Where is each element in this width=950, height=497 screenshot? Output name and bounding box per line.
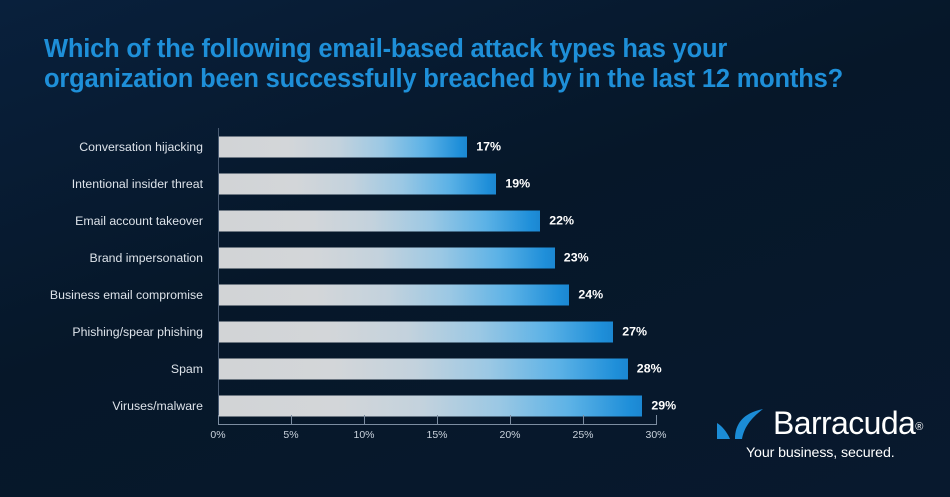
x-tick-label: 0% (210, 429, 225, 441)
category-label: Brand impersonation (90, 251, 203, 265)
bar-value-label: 24% (578, 288, 603, 302)
x-tick-label: 25% (572, 429, 593, 441)
x-tick (291, 415, 292, 425)
bar-value-label: 23% (564, 251, 589, 265)
x-tick-label: 30% (645, 429, 666, 441)
infographic-canvas: Which of the following email-based attac… (0, 0, 950, 497)
bar-track: 23% (219, 247, 555, 268)
x-tick-label: 10% (353, 429, 374, 441)
category-label: Business email compromise (50, 288, 203, 302)
x-tick (510, 415, 511, 425)
category-label: Email account takeover (75, 214, 203, 228)
logo-wordmark: Barracuda® (773, 405, 923, 442)
bar-track: 17% (219, 136, 467, 157)
bar-value-label: 28% (637, 362, 662, 376)
category-label: Intentional insider threat (72, 177, 203, 191)
bar (219, 284, 569, 305)
bar-chart: Conversation hijacking17%Intentional ins… (0, 128, 950, 448)
bar-row: Intentional insider threat19% (0, 165, 950, 202)
bar-row: Spam28% (0, 350, 950, 387)
bar-track: 24% (219, 284, 569, 305)
bar (219, 321, 613, 342)
x-tick-label: 5% (283, 429, 298, 441)
bar (219, 173, 496, 194)
x-tick (583, 415, 584, 425)
page-title: Which of the following email-based attac… (44, 34, 934, 94)
bar (219, 210, 540, 231)
logo-tagline: Your business, secured. (746, 445, 895, 461)
x-tick-label: 20% (499, 429, 520, 441)
bar-row: Conversation hijacking17% (0, 128, 950, 165)
bar (219, 247, 555, 268)
x-tick (218, 415, 219, 425)
bar-track: 19% (219, 173, 496, 194)
bar-row: Email account takeover22% (0, 202, 950, 239)
x-tick (656, 415, 657, 425)
bar-track: 27% (219, 321, 613, 342)
category-label: Conversation hijacking (79, 140, 203, 154)
x-tick (437, 415, 438, 425)
bar-value-label: 19% (505, 177, 530, 191)
bar-row: Phishing/spear phishing27% (0, 313, 950, 350)
y-axis-line (218, 128, 219, 425)
bar-value-label: 29% (651, 399, 676, 413)
barracuda-fin-icon (716, 408, 768, 442)
category-label: Viruses/malware (112, 399, 203, 413)
bar (219, 358, 628, 379)
registered-mark: ® (915, 421, 923, 433)
bar-track: 29% (219, 395, 642, 416)
category-label: Spam (171, 362, 203, 376)
bar-track: 22% (219, 210, 540, 231)
bar-row: Brand impersonation23% (0, 239, 950, 276)
bar-value-label: 22% (549, 214, 574, 228)
title-line-2: organization been successfully breached … (44, 64, 934, 94)
logo-wordmark-text: Barracuda (773, 405, 915, 441)
x-tick (364, 415, 365, 425)
x-tick-label: 15% (426, 429, 447, 441)
bar-value-label: 17% (476, 140, 501, 154)
bar (219, 136, 467, 157)
title-line-1: Which of the following email-based attac… (44, 34, 934, 64)
bar-row: Business email compromise24% (0, 276, 950, 313)
barracuda-logo: Barracuda® Your business, secured. (716, 405, 916, 473)
bar (219, 395, 642, 416)
bar-value-label: 27% (622, 325, 647, 339)
bar-track: 28% (219, 358, 628, 379)
bar-rows: Conversation hijacking17%Intentional ins… (0, 128, 950, 424)
category-label: Phishing/spear phishing (72, 325, 203, 339)
